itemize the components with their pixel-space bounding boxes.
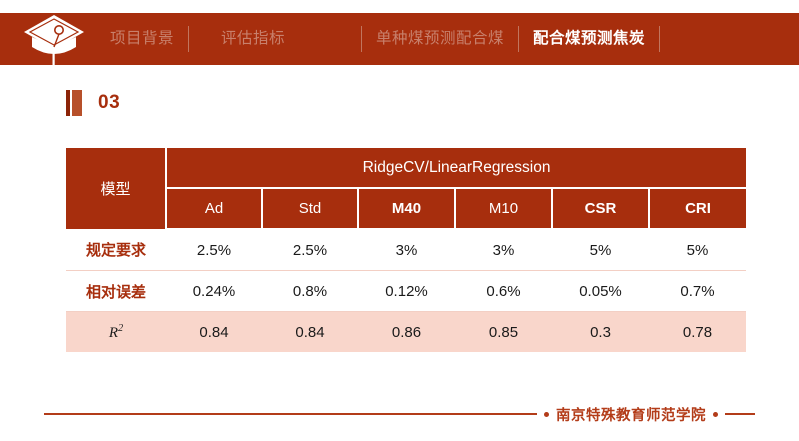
table-body: 规定要求 2.5% 2.5% 3% 3% 5% 5% 相对误差 0.24% 0.… [66,229,746,352]
table-row: 规定要求 2.5% 2.5% 3% 3% 5% 5% [66,229,746,271]
footer-rule-left [44,413,537,415]
cell-required-std: 2.5% [262,229,358,271]
footer-dot-right [713,412,718,417]
table-corner-label: 模型 [66,148,166,229]
nav-separator [361,26,362,52]
column-header-m10: M10 [455,188,552,229]
column-header-ad: Ad [166,188,262,229]
column-header-csr: CSR [552,188,649,229]
cell-required-m10: 3% [455,229,552,271]
nav-item-blend-predicts-coke[interactable]: 配合煤预测焦炭 [519,13,659,65]
cell-required-csr: 5% [552,229,649,271]
nav-item-evaluation-metrics[interactable]: 评估指标 [207,13,299,65]
column-header-std: Std [262,188,358,229]
cell-error-csr: 0.05% [552,271,649,312]
table-head: 模型 RidgeCV/LinearRegression Ad Std M40 M… [66,148,746,229]
table-row: R2 0.84 0.84 0.86 0.85 0.3 0.78 [66,312,746,353]
cell-error-ad: 0.24% [166,271,262,312]
section-bar-thin [66,90,70,116]
column-header-m40: M40 [358,188,455,229]
row-label-r-squared: R2 [66,312,166,353]
section-marker: 03 [66,90,120,116]
cell-r2-cri: 0.78 [649,312,746,353]
table-row: 相对误差 0.24% 0.8% 0.12% 0.6% 0.05% 0.7% [66,271,746,312]
cell-r2-m10: 0.85 [455,312,552,353]
nav-separator [518,26,519,52]
nav-item-project-background[interactable]: 项目背景 [96,13,188,65]
cell-required-m40: 3% [358,229,455,271]
nav-separator [188,26,189,52]
cell-r2-csr: 0.3 [552,312,649,353]
cell-r2-std: 0.84 [262,312,358,353]
cell-required-ad: 2.5% [166,229,262,271]
cell-error-cri: 0.7% [649,271,746,312]
cell-r2-m40: 0.86 [358,312,455,353]
cell-error-m10: 0.6% [455,271,552,312]
table-group-header: RidgeCV/LinearRegression [166,148,746,188]
table-header-row-columns: Ad Std M40 M10 CSR CRI [66,188,746,229]
cell-r2-ad: 0.84 [166,312,262,353]
row-label-required-spec: 规定要求 [66,229,166,271]
top-navigation-bar: 项目背景 评估指标 单种煤预测配合煤 配合煤预测焦炭 [0,13,799,65]
row-label-relative-error: 相对误差 [66,271,166,312]
footer-dot-left [544,412,549,417]
section-number: 03 [98,92,120,114]
slide-footer: 南京特殊教育师范学院 [0,403,799,425]
cell-error-std: 0.8% [262,271,358,312]
graduation-cap-icon [18,3,90,83]
cell-error-m40: 0.12% [358,271,455,312]
r-squared-base: R [109,325,118,341]
cell-required-cri: 5% [649,229,746,271]
r-squared-exponent: 2 [118,323,123,334]
footer-rule-right [725,413,755,415]
column-header-cri: CRI [649,188,746,229]
nav-separator [659,26,660,52]
table-header-row-group: 模型 RidgeCV/LinearRegression [66,148,746,188]
results-table-container: 模型 RidgeCV/LinearRegression Ad Std M40 M… [66,148,746,352]
nav-item-single-coal-predicts-blend[interactable]: 单种煤预测配合煤 [362,13,518,65]
nav-item-list: 项目背景 评估指标 单种煤预测配合煤 配合煤预测焦炭 [96,13,660,65]
footer-institution-name: 南京特殊教育师范学院 [556,404,706,425]
results-table: 模型 RidgeCV/LinearRegression Ad Std M40 M… [66,148,746,352]
section-bar-thick [72,90,82,116]
